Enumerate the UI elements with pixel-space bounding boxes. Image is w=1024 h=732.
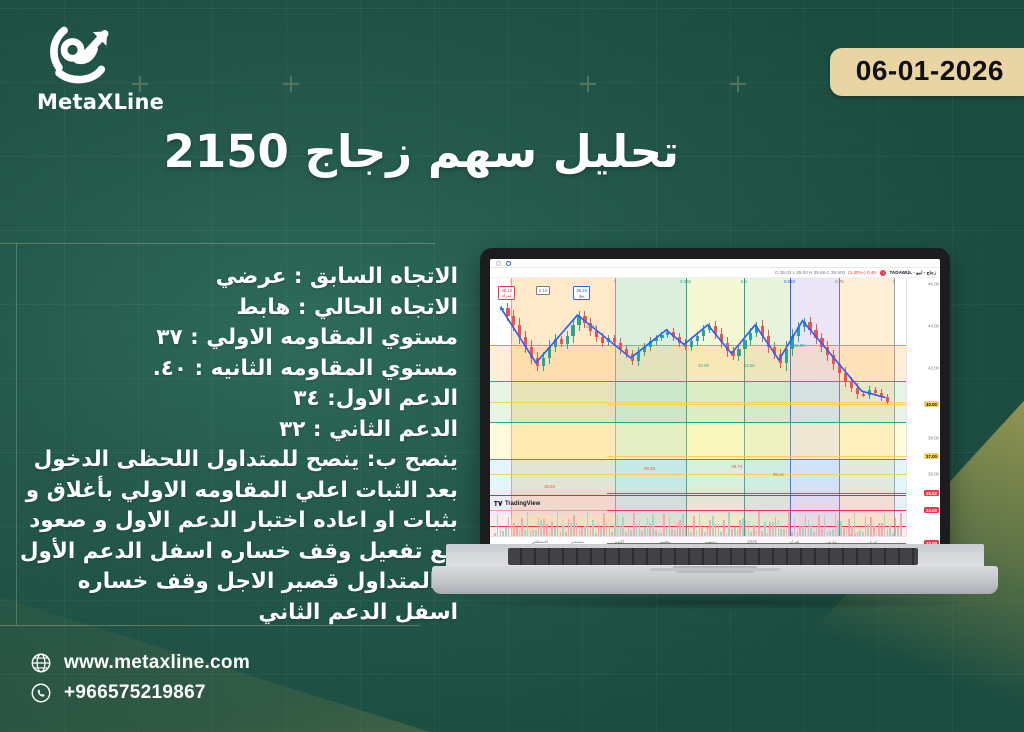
price-axis-label: 36.00 [928, 472, 939, 477]
fib-horizontal-line [490, 402, 906, 403]
volume-bar [633, 513, 635, 536]
volume-bar [707, 527, 709, 536]
volume-bar [592, 520, 594, 536]
fib-horizontal-band [490, 422, 906, 458]
analysis-line: الدعم الاول: ٣٤ [18, 384, 458, 415]
volume-bar [851, 526, 853, 536]
analysis-line: مستوي المقاومه الاولي : ٣٧ [18, 323, 458, 354]
volume-bar [614, 526, 616, 536]
quote-badge[interactable]: 35.10شراء [498, 286, 515, 300]
volume-bar [832, 529, 834, 536]
footer-phone-row[interactable]: +966575219867 [30, 682, 250, 704]
volume-bar [679, 520, 681, 536]
volume-bar [688, 528, 690, 536]
fib-ratio-label: 0.5 [741, 279, 747, 284]
pivot-price-label: 42.50 [744, 363, 755, 368]
tradingview-chart-app: زجاج - ابيو - TADAWUL ! -0.46 (-1.30%) O… [490, 259, 940, 558]
volume-bar [649, 523, 651, 536]
volume-bar [581, 527, 583, 536]
volume-bar [617, 515, 619, 536]
volume-bar [889, 525, 891, 536]
pivot-price-label: 42.90 [794, 343, 805, 348]
footer-website-text: www.metaxline.com [64, 652, 250, 674]
laptop-mockup: زجاج - ابيو - TADAWUL ! -0.46 (-1.30%) O… [432, 248, 998, 648]
volume-bar [513, 523, 515, 536]
volume-bar [666, 527, 668, 536]
volume-bar [824, 515, 826, 536]
globe-icon [30, 652, 52, 674]
volume-bar [739, 520, 741, 536]
volume-bar [497, 514, 499, 536]
tradingview-symbol-bar: زجاج - ابيو - TADAWUL ! -0.46 (-1.30%) O… [490, 268, 940, 278]
price-level-line [607, 493, 906, 494]
volume-bar [669, 517, 671, 536]
volume-bar [805, 515, 807, 536]
price-axis-label: 35.02 [924, 490, 939, 496]
volume-bar [540, 520, 542, 536]
divider-top [0, 243, 435, 244]
volume-bar [538, 517, 540, 536]
tradingview-logo: TradingView [494, 500, 540, 507]
volume-bar [663, 514, 665, 536]
volume-bar [600, 527, 602, 536]
price-level-line [607, 456, 906, 457]
pivot-price-label: 39.12 [773, 472, 784, 477]
pivot-price-label: 39.32 [644, 466, 655, 471]
volume-bar [685, 527, 687, 536]
volume-bar [543, 519, 545, 536]
volume-bar [897, 527, 899, 536]
tradingview-toolbar [490, 259, 940, 268]
fib-ratio-label: 1 [510, 279, 512, 284]
symbol-ohlc: O 35.02 L 35.00 H 35.88 C 35.500 [775, 270, 845, 275]
volume-bar [570, 523, 572, 536]
volume-bar [799, 526, 801, 536]
analysis-line: الاتجاه الحالي : هابط [18, 293, 458, 324]
quote-badge[interactable]: 35.20بيع [573, 286, 590, 300]
chart-plot-area[interactable]: 43.4442.0042.5042.9038.8439.3239.7439.12… [490, 278, 906, 536]
price-level-line [607, 510, 906, 511]
volume-bar [748, 521, 750, 536]
volume-bar [786, 529, 788, 537]
pivot-price-label: 39.74 [731, 464, 742, 469]
volume-bar [745, 520, 747, 536]
volume-bar [854, 513, 856, 536]
quote-badge[interactable]: 0.10 [536, 286, 551, 295]
volume-bar [628, 528, 630, 536]
price-axis[interactable]: 46.0044.0042.0040.0038.0037.0036.0035.02… [906, 278, 940, 536]
volume-histogram [490, 510, 906, 536]
volume-bar [647, 518, 649, 536]
volume-bar [636, 524, 638, 536]
volume-bar [609, 526, 611, 536]
fib-horizontal-line [490, 422, 906, 423]
volume-bar [881, 523, 883, 536]
volume-bar [576, 523, 578, 536]
volume-bar [837, 521, 839, 536]
divider-vertical [16, 243, 17, 625]
volume-bar [715, 524, 717, 536]
fib-horizontal-line [490, 381, 906, 382]
symbol-change: -0.46 (-1.30%) [848, 270, 877, 275]
volume-bar [718, 524, 720, 536]
volume-bar [644, 527, 646, 536]
volume-bar [511, 518, 513, 536]
brand-name: MetaXLine [28, 90, 173, 114]
symbol-name[interactable]: زجاج - ابيو - TADAWUL [889, 270, 936, 276]
volume-bar [870, 517, 872, 536]
volume-bar [508, 517, 510, 536]
volume-bar [895, 518, 897, 536]
footer-website-row[interactable]: www.metaxline.com [30, 652, 250, 674]
pivot-price-label: 38.84 [544, 484, 555, 489]
quote-side: بيع [576, 293, 587, 298]
fib-ratio-label: 0.382 [680, 279, 691, 284]
price-axis-label: 46.00 [928, 282, 939, 287]
volume-bar [562, 525, 564, 536]
volume-bar [516, 527, 518, 536]
volume-bar [840, 521, 842, 536]
analysis-recommendation: ينصح ب: ينصح للمتداول اللحظى الدخول بعد … [18, 445, 458, 628]
volume-bar [521, 518, 523, 536]
volume-bar [865, 516, 867, 536]
footer-contact: www.metaxline.com +966575219867 [30, 652, 250, 712]
growth-arrow-logo-icon [38, 22, 124, 88]
volume-bar [587, 512, 589, 536]
volume-bar [603, 513, 605, 536]
volume-bar [731, 529, 733, 536]
fib-horizontal-band [490, 278, 906, 345]
volume-bar [671, 529, 673, 536]
analysis-text-block: الاتجاه السابق : عرضي الاتجاه الحالي : ه… [18, 262, 458, 628]
volume-bar [900, 513, 902, 536]
volume-bar [808, 520, 810, 536]
volume-bar [775, 517, 777, 536]
volume-bar [505, 527, 507, 536]
analysis-line: مستوي المقاومه الثانيه : ٤٠. [18, 354, 458, 385]
volume-bar [753, 525, 755, 536]
price-axis-label: 40.00 [924, 401, 939, 407]
toolbar-dropdown-icon[interactable] [496, 261, 501, 266]
fib-horizontal-line [490, 345, 906, 346]
volume-bar [584, 526, 586, 536]
whatsapp-icon [30, 682, 52, 704]
fib-horizontal-line [490, 474, 906, 475]
volume-bar [728, 512, 730, 537]
volume-bar [794, 518, 796, 536]
volume-bar [867, 524, 869, 536]
quote-side: شراء [501, 293, 512, 298]
volume-bar [821, 529, 823, 536]
volume-bar [699, 514, 701, 536]
plus-decoration-icon [730, 76, 746, 92]
tradingview-wordmark: TradingView [505, 501, 540, 507]
volume-bar [802, 525, 804, 536]
volume-bar [772, 522, 774, 536]
volume-bar [554, 527, 556, 536]
volume-bar [818, 515, 820, 536]
pivot-price-label: 43.44 [586, 324, 597, 329]
price-axis-label: 37.00 [924, 453, 939, 459]
page-title: تحليل سهم زجاج 2150 [164, 125, 679, 178]
laptop-shadow [462, 594, 972, 610]
volume-bar [652, 515, 654, 536]
volume-bar [606, 523, 608, 536]
analysis-line: الاتجاه السابق : عرضي [18, 262, 458, 293]
volume-bar [701, 528, 703, 536]
alert-badge-icon: ! [880, 270, 886, 276]
volume-bar [709, 520, 711, 536]
fib-ratio-label: 0 [614, 279, 616, 284]
volume-bar [788, 512, 790, 536]
volume-bar [758, 511, 760, 536]
toolbar-settings-icon[interactable] [506, 261, 511, 266]
volume-bar [682, 514, 684, 536]
price-level-line [607, 404, 906, 405]
analysis-line: الدعم الثاني : ٣٢ [18, 415, 458, 446]
fib-ratio-label: 0.618 [784, 279, 795, 284]
quote-value: 0.10 [539, 288, 548, 293]
price-axis-label: 42.00 [928, 366, 939, 371]
volume-bar [780, 529, 782, 536]
fib-ratio-label: 0.75 [835, 279, 844, 284]
laptop-trackpad [650, 568, 780, 571]
volume-bar [723, 520, 725, 536]
volume-bar [887, 529, 889, 536]
price-level-line [607, 543, 906, 544]
volume-bar [884, 513, 886, 536]
fib-horizontal-line [490, 495, 906, 496]
date-badge: 06-01-2026 [830, 48, 1024, 96]
laptop-lid: زجاج - ابيو - TADAWUL ! -0.46 (-1.30%) O… [480, 248, 950, 570]
volume-bar [527, 512, 529, 536]
plus-decoration-icon [580, 76, 596, 92]
volume-bar [843, 528, 845, 536]
volume-bar [573, 515, 575, 536]
volume-bar [769, 522, 771, 536]
volume-bar [873, 526, 875, 536]
volume-bar [677, 523, 679, 536]
volume-bar [835, 514, 837, 536]
plus-decoration-icon [283, 76, 299, 92]
laptop-keyboard [508, 548, 918, 565]
volume-bar [557, 511, 559, 536]
volume-bar [546, 524, 548, 536]
price-axis-label: 34.00 [924, 507, 939, 513]
volume-bar [848, 519, 850, 536]
volume-bar [734, 527, 736, 536]
laptop-screen: زجاج - ابيو - TADAWUL ! -0.46 (-1.30%) O… [490, 259, 940, 558]
volume-bar [590, 529, 592, 536]
pivot-price-label: 42.00 [698, 363, 709, 368]
brand-logo: MetaXLine [28, 22, 168, 114]
footer-phone-text: +966575219867 [64, 682, 206, 704]
volume-bar [620, 526, 622, 536]
volume-bar [693, 516, 695, 536]
volume-bar [622, 517, 624, 536]
price-axis-label: 38.00 [928, 436, 939, 441]
price-axis-label: 44.00 [928, 324, 939, 329]
fib-ratio-label: 1 [892, 279, 894, 284]
volume-bar [816, 528, 818, 536]
chart-wrapper: 43.4442.0042.5042.9038.8439.3239.7439.12… [490, 278, 940, 536]
fib-horizontal-line [490, 459, 906, 460]
tradingview-mark-icon [494, 500, 503, 507]
volume-bar [712, 516, 714, 536]
volume-bar [810, 525, 812, 536]
volume-bar [639, 521, 641, 536]
volume-bar [778, 520, 780, 536]
volume-bar [878, 523, 880, 536]
volume-bar [598, 523, 600, 536]
volume-bar [568, 519, 570, 536]
volume-bar [551, 522, 553, 536]
volume-bar [764, 522, 766, 536]
volume-bar [742, 518, 744, 536]
